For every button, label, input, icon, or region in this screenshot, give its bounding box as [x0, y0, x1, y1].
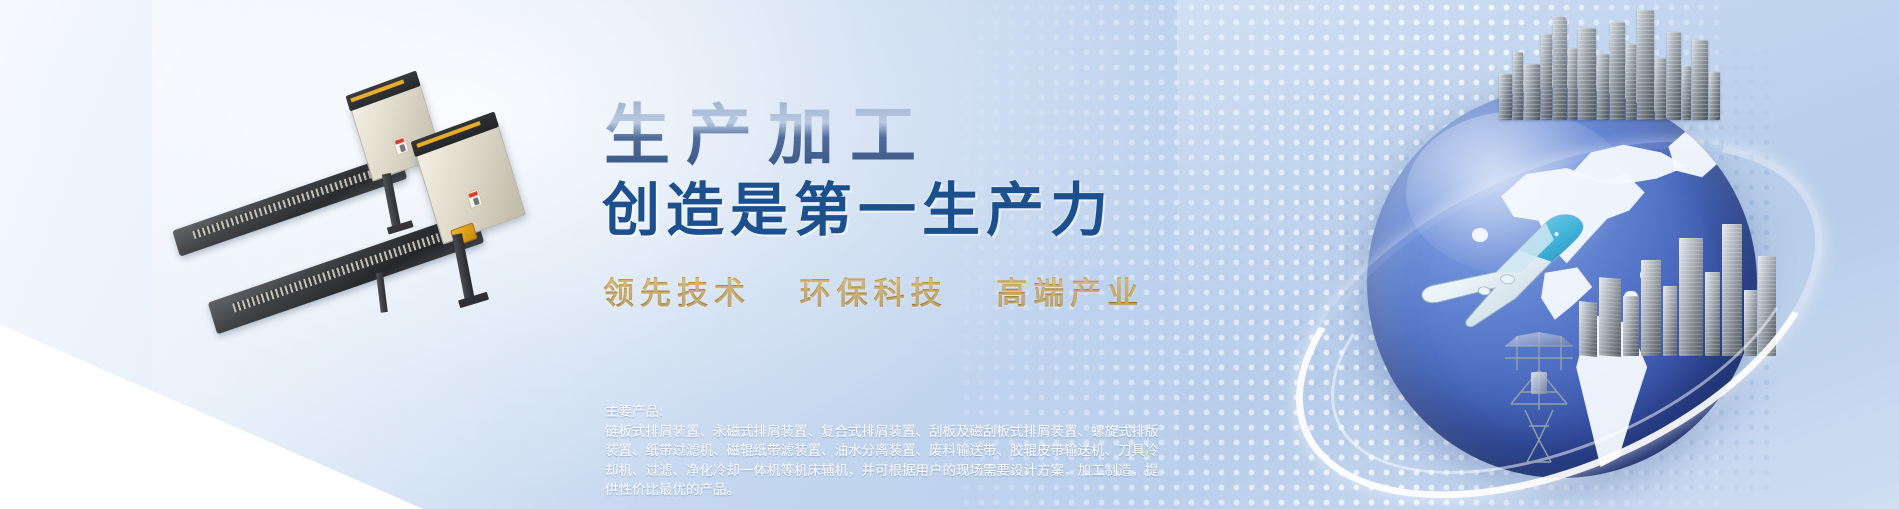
description-line-4: 供性价比最优的产品。 [605, 481, 1475, 501]
promo-banner: 生产加工 创造是第一生产力 领先技术 环保科技 高端产业 主要产品: 链板式排屑… [0, 0, 1899, 509]
tagline-item-2: 环保科技 [800, 276, 948, 311]
tagline-item-1: 领先技术 [603, 276, 751, 311]
description-line-2: 装置、纸带过滤机、磁辊纸带滤装置、油水分离装置、废料输送带、胶辊皮带输送机、刀具… [605, 442, 1475, 462]
banner-subheadline: 创造是第一生产力 [602, 163, 1114, 247]
banner-text-block: 生产加工 创造是第一生产力 领先技术 环保科技 高端产业 主要产品: 链板式排屑… [0, 0, 1899, 509]
description-lead: 主要产品: [605, 403, 1475, 423]
tagline-item-3: 高端产业 [996, 276, 1144, 311]
product-description: 主要产品: 链板式排屑装置、永磁式排屑装置、复合式排屑装置、刮板及磁刮板式排屑装… [605, 403, 1475, 501]
description-line-1: 链板式排屑装置、永磁式排屑装置、复合式排屑装置、刮板及磁刮板式排屑装置、螺旋式排… [605, 423, 1475, 443]
banner-tagline: 领先技术 环保科技 高端产业 [603, 268, 1144, 313]
description-line-3: 却机、过滤、净化冷却一体机等机床辅机，并可根据用户的现场需要设计方案，加工制造，… [605, 462, 1475, 482]
